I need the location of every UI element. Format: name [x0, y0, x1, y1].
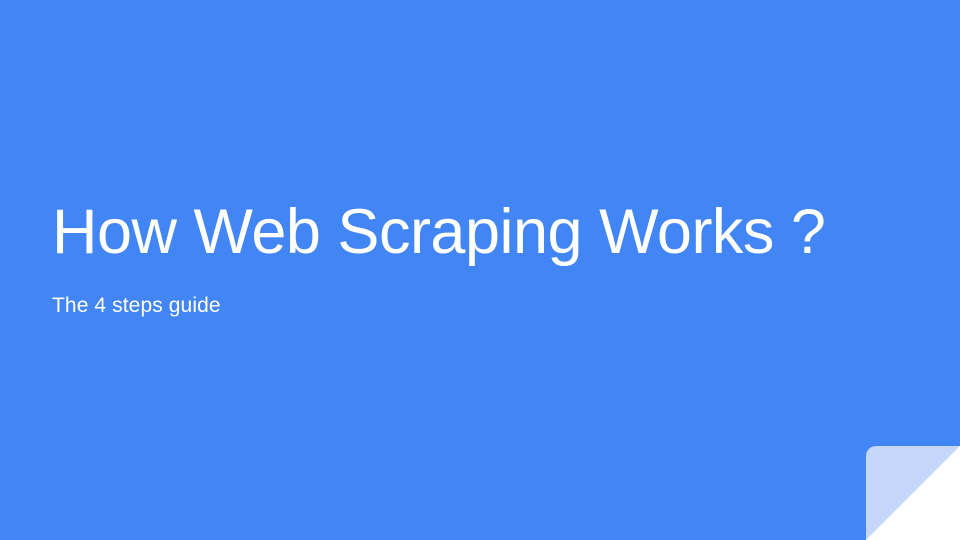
slide-subtitle: The 4 steps guide	[52, 268, 852, 319]
slide-text-block: How Web Scraping Works ? The 4 steps gui…	[52, 196, 852, 320]
page-title: How Web Scraping Works ?	[52, 196, 852, 268]
folded-corner-decoration	[866, 446, 960, 540]
presentation-slide: How Web Scraping Works ? The 4 steps gui…	[0, 0, 960, 540]
